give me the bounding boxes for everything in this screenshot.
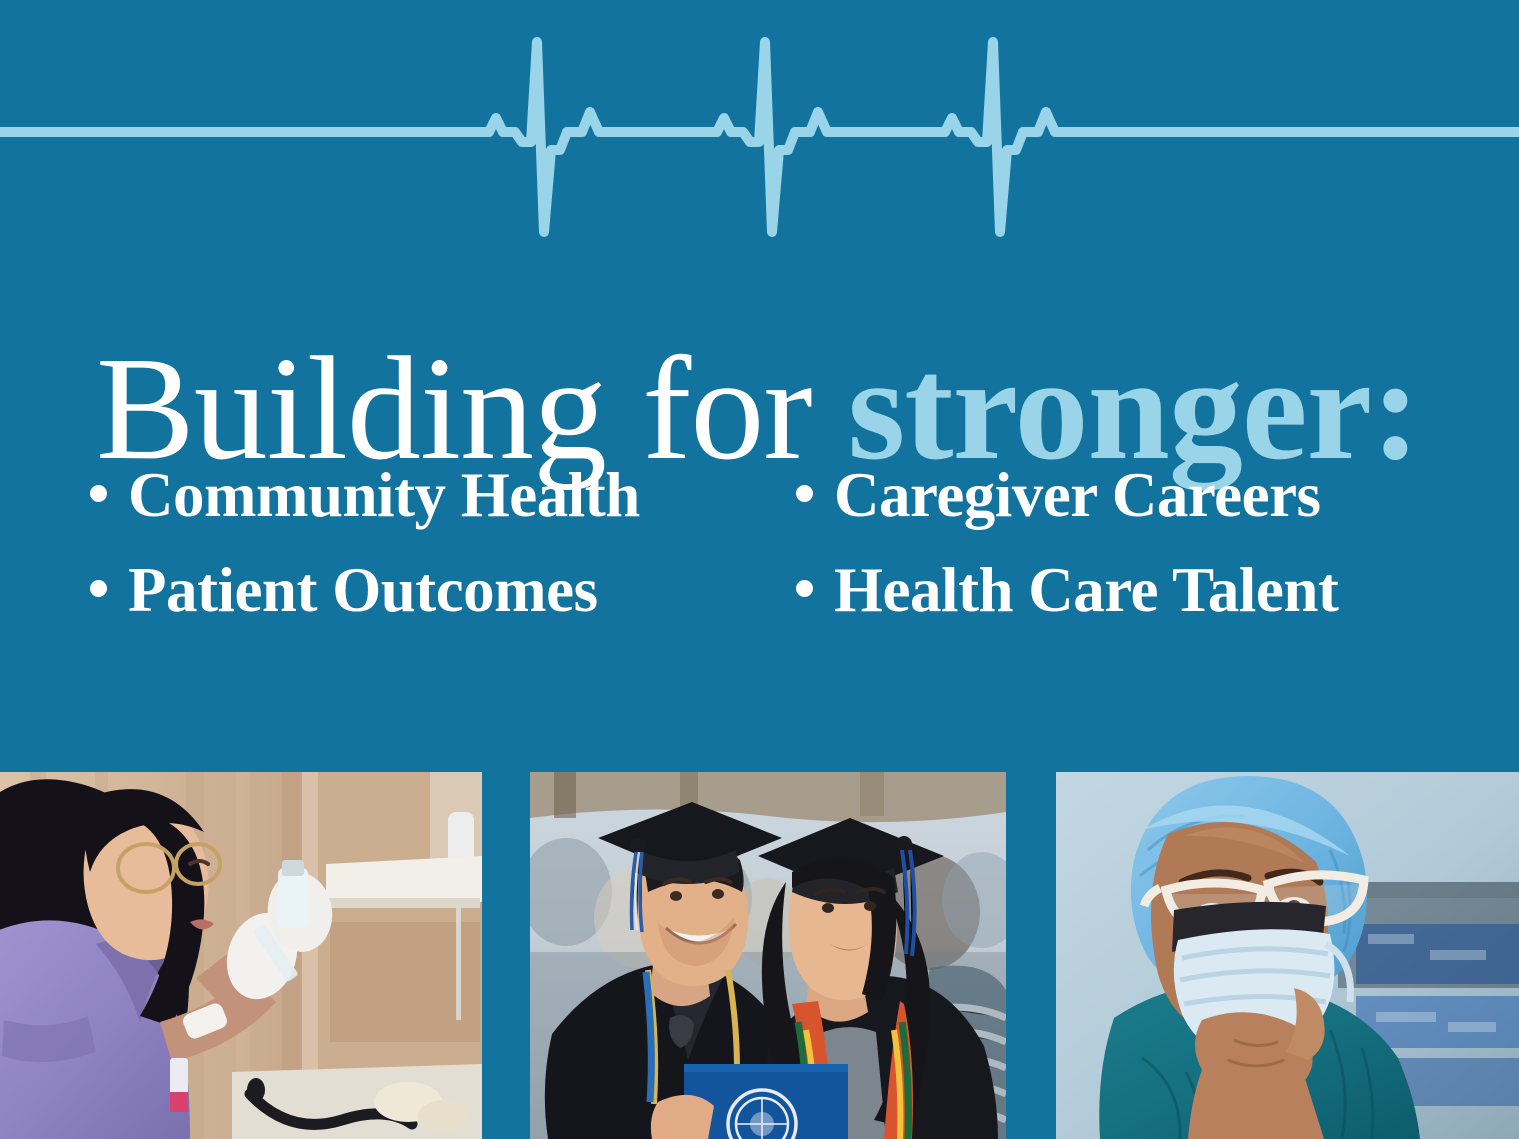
list-item-health-care-talent: Health Care Talent bbox=[796, 559, 1450, 622]
bullet-dot-icon bbox=[90, 580, 107, 597]
list-item-label: Caregiver Careers bbox=[834, 464, 1321, 527]
bullet-dot-icon bbox=[796, 485, 813, 502]
bullet-dot-icon bbox=[796, 580, 813, 597]
photo-strip bbox=[0, 772, 1519, 1139]
pillars-list: Community Health Caregiver Careers Patie… bbox=[90, 448, 1450, 638]
list-item-label: Community Health bbox=[128, 464, 640, 527]
list-item-label: Patient Outcomes bbox=[128, 559, 598, 622]
photo-surgical-staff-portrait bbox=[1056, 772, 1519, 1139]
list-item-patient-outcomes: Patient Outcomes bbox=[90, 559, 796, 622]
list-item-community-health: Community Health bbox=[90, 464, 796, 527]
ekg-heartbeat-icon bbox=[0, 0, 1519, 240]
ekg-heartbeat-banner bbox=[0, 0, 1519, 240]
photo-graduates-with-diploma bbox=[530, 772, 1006, 1139]
list-item-label: Health Care Talent bbox=[834, 559, 1338, 622]
list-item-caregiver-careers: Caregiver Careers bbox=[796, 464, 1450, 527]
bullet-dot-icon bbox=[90, 485, 107, 502]
poster-canvas: Building for stronger: Community Health … bbox=[0, 0, 1519, 1139]
photo-nurse-preparing-medication bbox=[0, 772, 482, 1139]
